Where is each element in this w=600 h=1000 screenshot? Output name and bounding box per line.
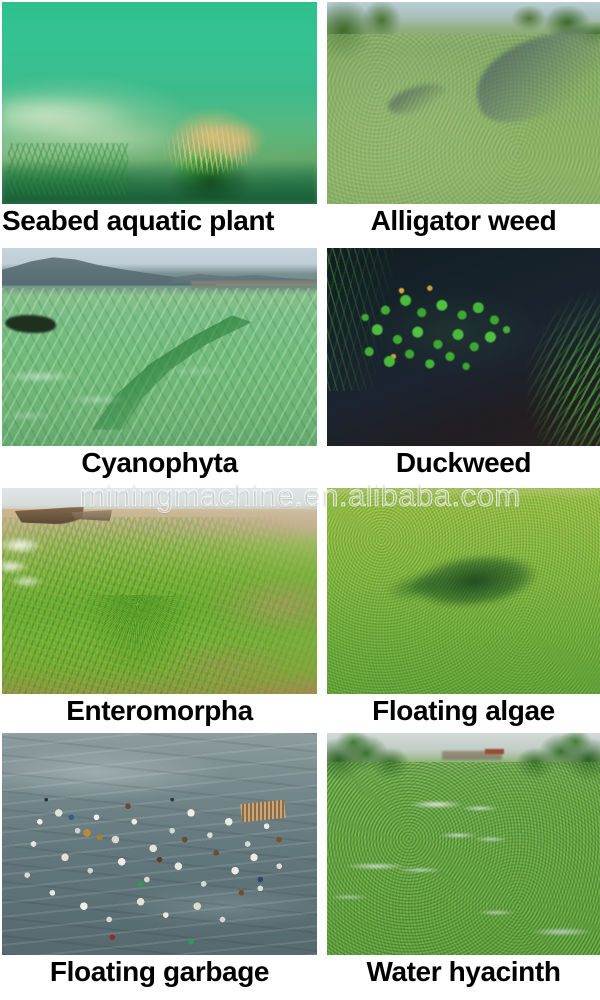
cell-floating-garbage[interactable] [2, 733, 317, 955]
cell-floating-algae[interactable] [327, 488, 600, 694]
reeds-right [507, 292, 600, 446]
caption-alligator-weed: Alligator weed [327, 206, 600, 236]
cell-duckweed[interactable] [327, 248, 600, 446]
algae-fan-streak [84, 595, 191, 690]
cell-cyanophyta[interactable] [2, 248, 317, 446]
aquatic-plant-blades [147, 103, 273, 176]
surf-foam [2, 533, 84, 595]
photo-enteromorpha [2, 488, 317, 694]
cell-enteromorpha[interactable] [2, 488, 317, 694]
caption-enteromorpha: Enteromorpha [2, 696, 317, 726]
photo-cyanophyta [2, 248, 317, 446]
photo-duckweed [327, 248, 600, 446]
photo-water-hyacinth [327, 733, 600, 955]
caption-floating-algae: Floating algae [327, 696, 600, 726]
image-collage: Seabed aquatic plant Alligator weed Cyan… [0, 0, 600, 1000]
caption-cyanophyta: Cyanophyta [2, 448, 317, 478]
cell-alligator-weed[interactable] [327, 2, 600, 204]
photo-alligator-weed [327, 2, 600, 204]
photo-seabed-aquatic-plant [2, 2, 317, 204]
caption-water-hyacinth: Water hyacinth [327, 957, 600, 987]
open-water-patches [327, 762, 600, 955]
cell-water-hyacinth[interactable] [327, 733, 600, 955]
caption-duckweed: Duckweed [327, 448, 600, 478]
seabed-weed-patch [8, 143, 128, 196]
distant-building-roof [485, 749, 504, 755]
foam-streaks [2, 357, 317, 446]
cell-seabed-aquatic-plant[interactable] [2, 2, 317, 204]
photo-floating-garbage [2, 733, 317, 955]
caption-floating-garbage: Floating garbage [2, 957, 317, 987]
far-bank-strip [327, 488, 600, 498]
photo-floating-algae [327, 488, 600, 694]
floating-debris-colored [2, 733, 317, 955]
